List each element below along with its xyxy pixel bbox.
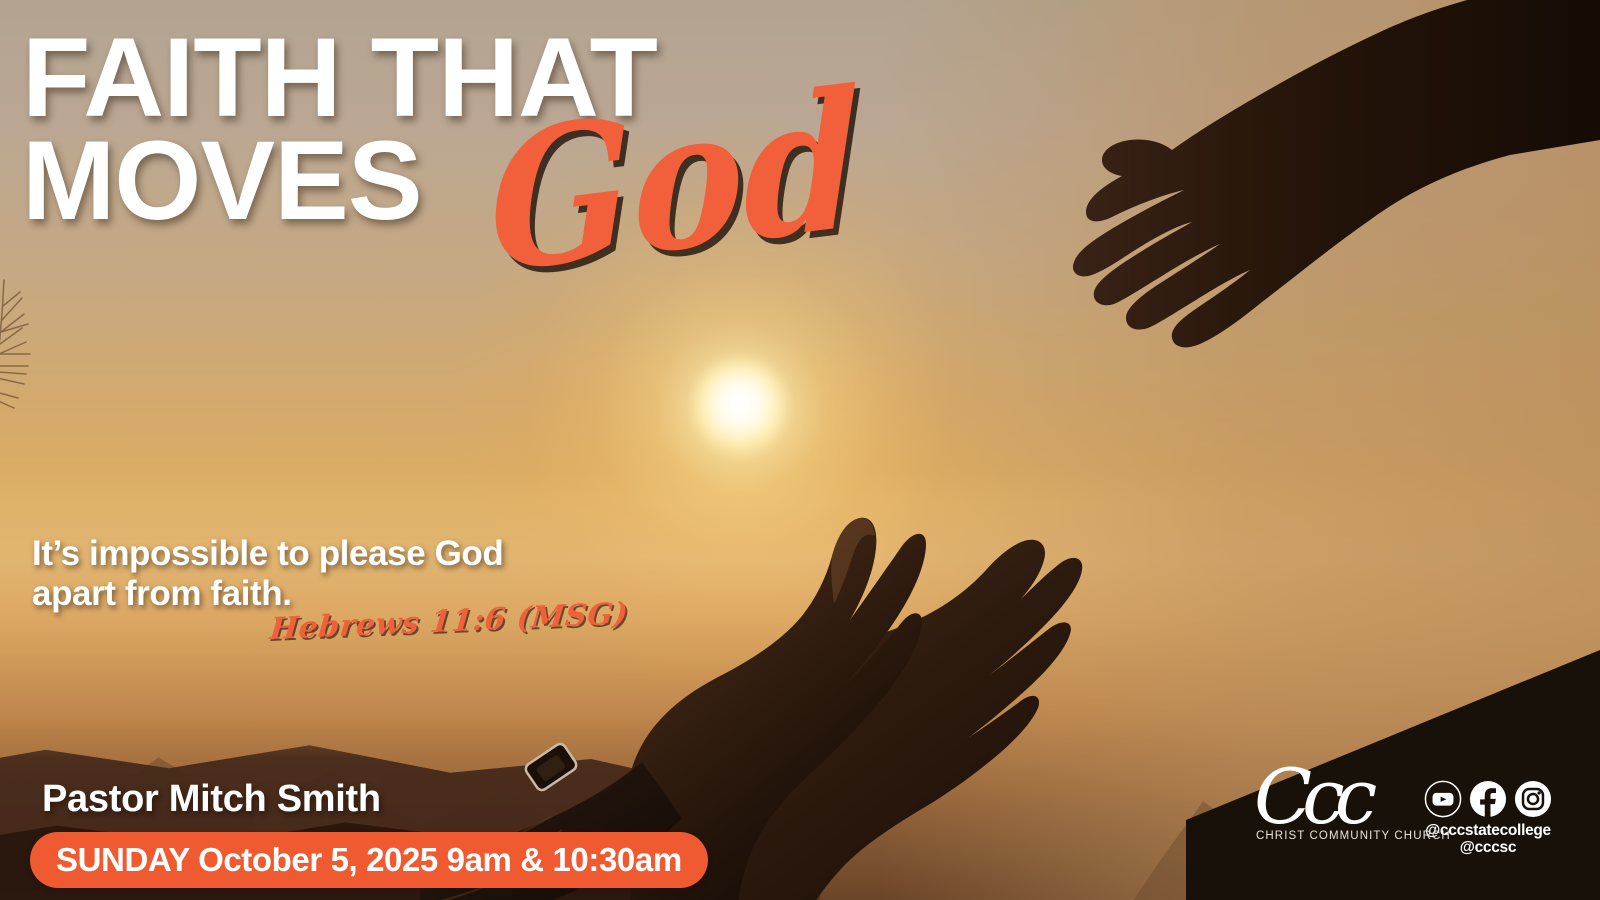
headline-accent-word: God xyxy=(488,64,862,299)
social-icon-row xyxy=(1424,780,1552,818)
scripture-line-1: It’s impossible to please God xyxy=(32,534,652,574)
open-hands-reaching-up-silhouette xyxy=(420,400,1100,900)
social-block: @cccstatecollege @cccsc xyxy=(1424,766,1552,857)
brand-lockup: Ccc CHRIST COMMUNITY CHURCH xyxy=(1250,766,1600,876)
sermon-poster: FAITH THAT MOVES God It’s impossible to … xyxy=(0,0,1600,900)
speaker-name: Pastor Mitch Smith xyxy=(42,778,381,821)
dry-branch-icon xyxy=(0,262,68,412)
logo-wordmark: Ccc xyxy=(1250,766,1416,828)
instagram-icon[interactable] xyxy=(1514,780,1552,818)
church-logo: Ccc CHRIST COMMUNITY CHURCH xyxy=(1250,766,1416,842)
facebook-icon[interactable] xyxy=(1469,780,1507,818)
service-time-badge: SUNDAY October 5, 2025 9am & 10:30am xyxy=(30,832,708,888)
service-time-text: SUNDAY October 5, 2025 9am & 10:30am xyxy=(56,841,682,879)
logo-tagline: CHRIST COMMUNITY CHURCH xyxy=(1250,830,1416,842)
youtube-icon[interactable] xyxy=(1424,780,1462,818)
hand-reaching-down-silhouette xyxy=(900,0,1600,400)
wristwatch xyxy=(524,742,579,793)
